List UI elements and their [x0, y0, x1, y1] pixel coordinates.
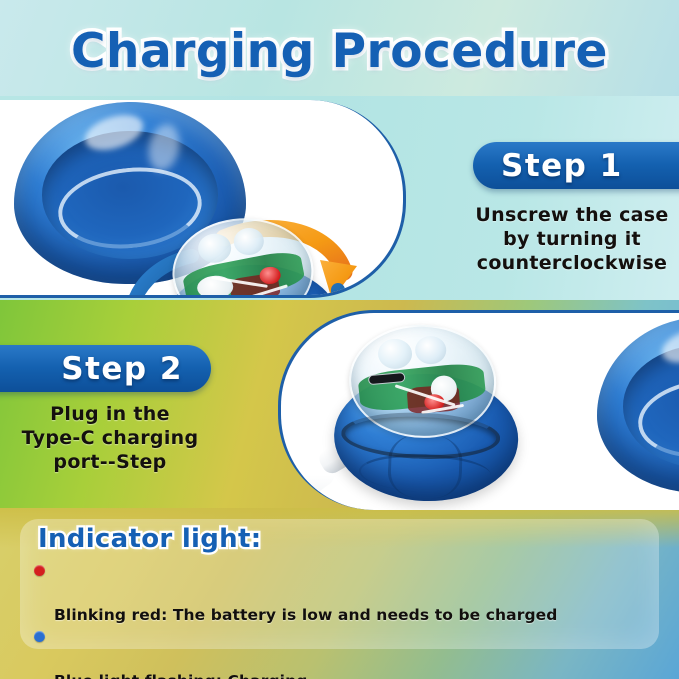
clear-led-lens-3	[377, 338, 412, 370]
indicator-light-title: Indicator light:	[38, 524, 261, 554]
list-item: Blue light flashing: Charging	[33, 626, 645, 679]
clear-dome	[170, 215, 316, 298]
page-title: Charging Procedure	[0, 24, 679, 79]
indicator-light-panel: Indicator light: Blinking red: The batte…	[20, 519, 659, 649]
step-1-banner: Step 1	[473, 142, 679, 189]
blue-indicator-dot	[34, 631, 45, 642]
step-2-caption: Plug in the Type-C charging port--Step	[4, 402, 216, 474]
list-item: Blinking red: The battery is low and nee…	[33, 560, 645, 626]
charging-procedure-infographic: Charging Procedure Step 1 Unscrew the ca…	[0, 0, 679, 679]
open-case-hemisphere-image-2	[597, 317, 679, 493]
step-2-photo-panel	[278, 310, 679, 510]
list-item-text: Blinking red: The battery is low and nee…	[54, 606, 557, 624]
step-1-photo-panel	[0, 100, 406, 298]
ball-device-image-step2	[332, 322, 522, 504]
clear-led-lens-1	[197, 233, 231, 264]
clear-led-lens-4	[415, 335, 447, 364]
step-2-banner: Step 2	[0, 345, 211, 392]
list-item-text: Blue light flashing: Charging	[54, 672, 307, 679]
indicator-light-list: Blinking red: The battery is low and nee…	[33, 560, 645, 679]
ball-device-image-step1	[158, 214, 343, 298]
step-2-banner-label: Step 2	[61, 351, 183, 387]
clear-led-lens-2	[233, 228, 264, 256]
step-1-caption: Unscrew the case by turning it countercl…	[466, 203, 678, 275]
red-indicator-dot	[34, 565, 45, 576]
step-1-banner-label: Step 1	[501, 148, 623, 184]
